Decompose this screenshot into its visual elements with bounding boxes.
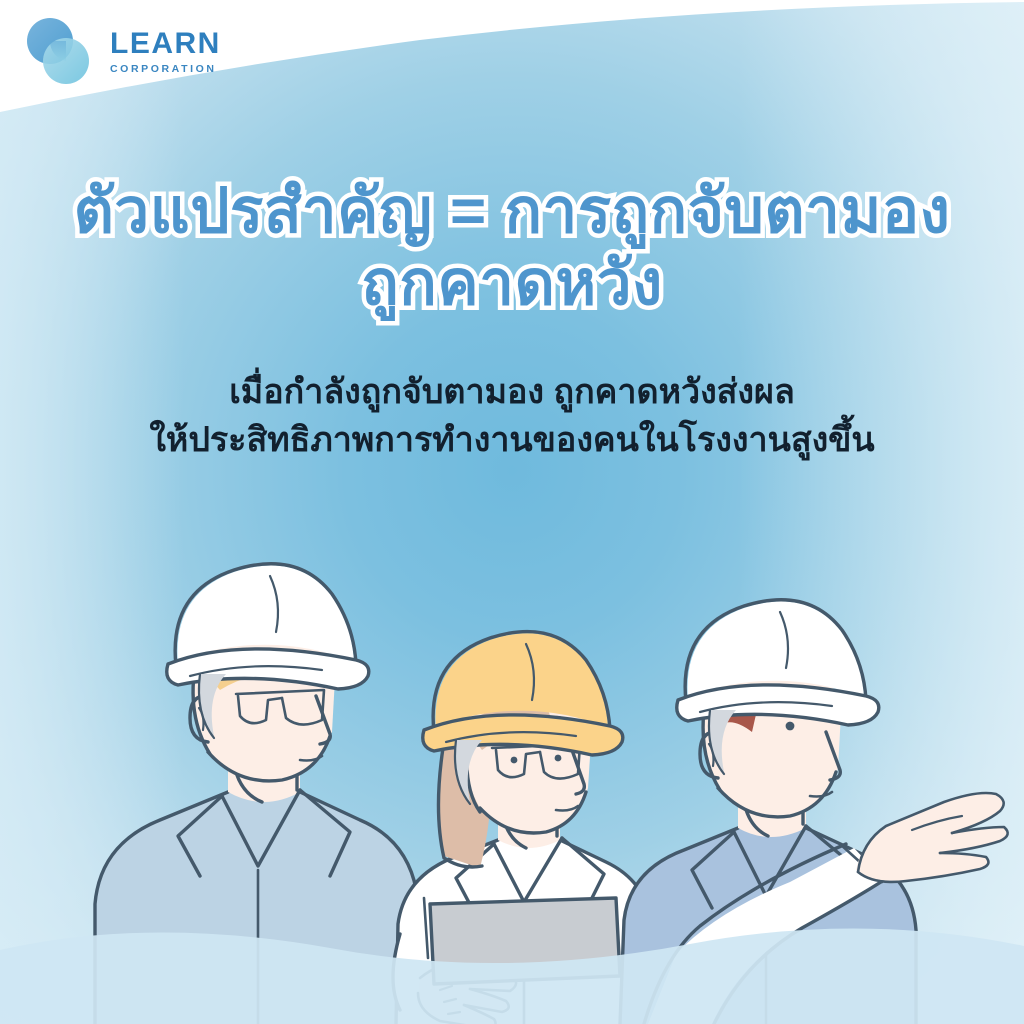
page-subtitle: เมื่อกำลังถูกจับตามอง ถูกคาดหวังส่งผล ให…: [0, 368, 1024, 465]
figure-worker-right: [620, 600, 1008, 1024]
subtitle-line-2: ให้ประสิทธิภาพการทำงานของคนในโรงงานสูงขึ…: [0, 416, 1024, 464]
brand-logo[interactable]: LEARN CORPORATION: [22, 14, 221, 88]
worker-illustration: .ln { fill:none; stroke:#44596b; stroke-…: [0, 484, 1024, 1024]
headline-line-1: ตัวแปรสำคัญ = การถูกจับตามอง: [0, 176, 1024, 248]
figure-worker-left: [95, 564, 418, 1024]
figure-worker-center: [392, 632, 652, 1024]
two-overlapping-circles-logo-icon: [22, 14, 96, 88]
page-title: ตัวแปรสำคัญ = การถูกจับตามอง ถูกคาดหวัง: [0, 176, 1024, 320]
brand-tagline: CORPORATION: [110, 64, 221, 75]
subtitle-line-1: เมื่อกำลังถูกจับตามอง ถูกคาดหวังส่งผล: [0, 368, 1024, 416]
brand-name: LEARN: [110, 29, 221, 59]
headline-line-2: ถูกคาดหวัง: [0, 248, 1024, 320]
poster-canvas: .ln { fill:none; stroke:#44596b; stroke-…: [0, 0, 1024, 1024]
